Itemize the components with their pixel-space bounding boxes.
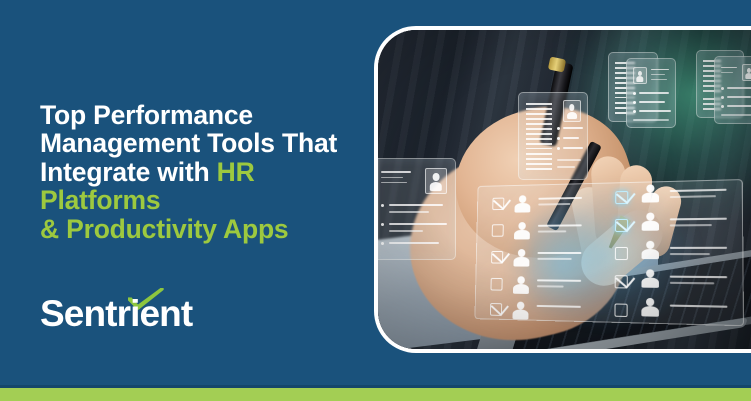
card-text-line bbox=[727, 105, 751, 107]
row-line bbox=[538, 203, 570, 206]
bullet-dot bbox=[633, 92, 636, 95]
card-text-line bbox=[721, 72, 733, 73]
card-text-line bbox=[381, 182, 407, 183]
checkbox-checked[interactable] bbox=[490, 303, 502, 316]
employee-profile-card-center bbox=[518, 92, 588, 180]
person-icon bbox=[641, 212, 658, 230]
sentrient-logo[interactable]: Sentrient bbox=[40, 288, 270, 334]
card-text-line bbox=[639, 110, 671, 112]
avatar-icon bbox=[425, 168, 447, 194]
card-text-line bbox=[563, 127, 583, 129]
card-text-line bbox=[389, 230, 423, 232]
headline-line-3-plain: Integrate with bbox=[40, 157, 217, 187]
row-line bbox=[670, 305, 728, 308]
checkbox-unchecked[interactable] bbox=[614, 303, 627, 317]
row-line bbox=[670, 247, 727, 249]
bullet-dot bbox=[381, 204, 384, 207]
row-line bbox=[537, 305, 581, 308]
row-line bbox=[670, 218, 727, 221]
checkbox-checked[interactable] bbox=[491, 251, 503, 264]
row-line bbox=[670, 189, 727, 192]
avatar-icon bbox=[742, 64, 751, 81]
card-text-line bbox=[721, 114, 751, 116]
document-card-front-top-right bbox=[626, 58, 676, 128]
person-icon bbox=[641, 269, 658, 288]
bullet-dot bbox=[721, 105, 724, 108]
card-text-block bbox=[526, 103, 552, 149]
row-line bbox=[537, 279, 581, 281]
checkbox-checked[interactable] bbox=[492, 198, 504, 211]
bullet-dot bbox=[721, 96, 724, 99]
bullet-dot bbox=[381, 242, 384, 245]
card-text-line bbox=[557, 166, 575, 168]
checkbox-unchecked[interactable] bbox=[492, 224, 504, 236]
row-line bbox=[537, 285, 564, 287]
bullet-dot bbox=[381, 223, 384, 226]
row-line bbox=[670, 276, 727, 279]
row-line bbox=[670, 282, 714, 285]
checkbox-checked-highlighted[interactable] bbox=[615, 191, 628, 204]
bottom-accent-bar bbox=[0, 388, 751, 401]
hero-image bbox=[378, 30, 751, 349]
card-text-line bbox=[557, 159, 581, 161]
logo-wordmark: Sentrient bbox=[40, 295, 192, 333]
row-line bbox=[538, 197, 582, 200]
card-text-block bbox=[526, 153, 552, 173]
card-text-line bbox=[389, 211, 429, 213]
bullet-dot bbox=[721, 87, 724, 90]
bullet-dot bbox=[557, 127, 560, 130]
row-line bbox=[670, 253, 710, 255]
row-line bbox=[537, 252, 581, 254]
row-line bbox=[538, 230, 566, 232]
blog-banner: Top Performance Management Tools That In… bbox=[0, 0, 751, 401]
card-text-line bbox=[389, 242, 439, 244]
person-icon bbox=[512, 302, 528, 320]
row-line bbox=[670, 224, 712, 226]
card-text-line bbox=[389, 204, 443, 206]
person-icon bbox=[513, 249, 529, 266]
bullet-dot bbox=[557, 147, 560, 150]
card-text-line bbox=[651, 79, 667, 80]
card-text-line bbox=[721, 67, 737, 68]
card-text-line bbox=[389, 223, 447, 225]
document-card-front-far-right bbox=[714, 56, 751, 124]
headline-line-2: Management Tools That bbox=[40, 128, 337, 158]
person-icon bbox=[514, 195, 530, 213]
hero-image-frame bbox=[374, 26, 751, 353]
card-text-line bbox=[381, 171, 411, 173]
row-line bbox=[537, 258, 571, 260]
avatar-icon bbox=[633, 67, 647, 84]
row-line bbox=[538, 224, 582, 226]
card-text-line bbox=[381, 177, 403, 178]
person-icon bbox=[514, 222, 530, 239]
bullet-dot bbox=[633, 101, 636, 104]
checkbox-checked[interactable] bbox=[615, 275, 628, 288]
bullet-dot bbox=[557, 137, 560, 140]
person-icon bbox=[641, 184, 658, 202]
card-text-line bbox=[633, 119, 669, 121]
person-icon bbox=[641, 241, 658, 259]
card-text-line bbox=[639, 92, 669, 94]
headline-line-1: Top Performance bbox=[40, 100, 253, 130]
page-title: Top Performance Management Tools That In… bbox=[40, 101, 360, 243]
checkbox-checked-highlighted[interactable] bbox=[615, 219, 628, 232]
card-text-line bbox=[639, 101, 665, 103]
card-text-line bbox=[727, 96, 751, 98]
holographic-checklist-panel bbox=[474, 179, 744, 326]
headline-line-4-accent: & Productivity Apps bbox=[40, 214, 288, 244]
card-text-line bbox=[651, 69, 669, 70]
person-icon bbox=[512, 276, 528, 294]
card-text-line bbox=[563, 137, 579, 139]
card-text-line bbox=[727, 87, 751, 89]
card-text-line bbox=[563, 147, 583, 149]
bullet-dot bbox=[633, 110, 636, 113]
row-line bbox=[670, 195, 716, 198]
card-text-line bbox=[651, 74, 665, 75]
checkbox-unchecked[interactable] bbox=[615, 247, 628, 260]
avatar-icon bbox=[563, 100, 581, 122]
employee-profile-card-left bbox=[378, 158, 456, 260]
checkbox-unchecked[interactable] bbox=[491, 278, 503, 291]
person-icon bbox=[641, 298, 659, 317]
